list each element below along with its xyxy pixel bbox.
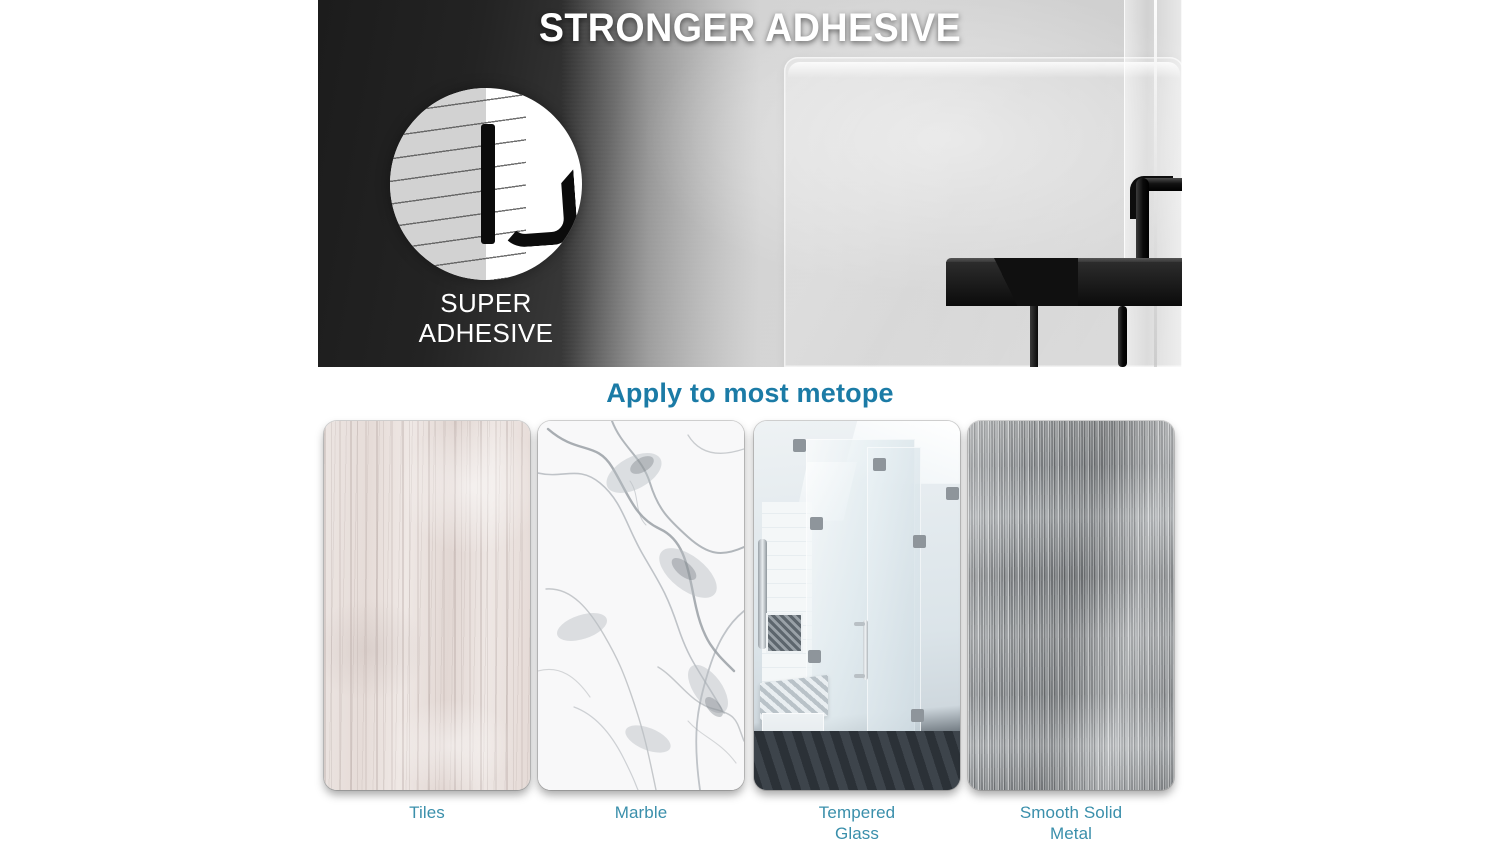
door-handle — [863, 620, 868, 680]
swatch-image-metal — [968, 421, 1174, 790]
tiled-floor — [754, 731, 960, 790]
section-heading: Apply to most metope — [318, 378, 1182, 409]
page-title: STRONGER ADHESIVE — [344, 6, 1156, 51]
swatch-marble: Marble — [538, 421, 744, 823]
product-infographic: STRONGER ADHESIVE SUPER ADHESIVE Apply t… — [0, 0, 1500, 844]
swatch-label-metal-line1: Smooth Solid — [1020, 803, 1122, 822]
mosaic-niche — [766, 613, 803, 654]
swatch-tempered-glass: Tempered Glass — [754, 421, 960, 844]
swatch-image-marble — [538, 421, 744, 790]
hook-curve-icon — [495, 170, 578, 249]
swatch-label-tiles: Tiles — [324, 802, 530, 823]
badge-caption-line1: SUPER — [376, 288, 596, 318]
swatch-label-metal: Smooth Solid Metal — [968, 802, 1174, 844]
swatch-tiles: Tiles — [324, 421, 530, 823]
shelf-bar — [1118, 306, 1127, 367]
marble-texture — [538, 421, 744, 790]
badge-caption-line2: ADHESIVE — [376, 318, 596, 348]
swatch-label-glass-line1: Tempered — [819, 803, 895, 822]
glass-clamp — [911, 709, 924, 722]
marble-vein-graphic — [538, 421, 744, 790]
super-adhesive-badge: SUPER ADHESIVE — [390, 88, 582, 280]
badge-circle — [390, 88, 582, 280]
shower-glass-photo — [754, 421, 960, 790]
badge-caption: SUPER ADHESIVE — [376, 288, 596, 348]
glass-door — [867, 447, 921, 772]
swatch-image-glass — [754, 421, 960, 790]
glass-clamp — [913, 535, 926, 548]
shelf-corner — [946, 258, 1078, 306]
brushed-metal-texture — [968, 421, 1174, 790]
swatch-label-metal-line2: Metal — [1050, 824, 1092, 843]
swatch-label-marble: Marble — [538, 802, 744, 823]
surface-swatch-row: Tiles — [322, 421, 1184, 844]
glass-clamp — [793, 439, 806, 452]
wall-hatch-icon — [390, 88, 486, 280]
swatch-label-glass-line2: Glass — [835, 824, 879, 843]
hook-icon — [481, 124, 495, 243]
glass-clamp — [808, 650, 821, 663]
shelf-bar — [1030, 306, 1038, 367]
swatch-smooth-solid-metal: Smooth Solid Metal — [968, 421, 1174, 844]
swatch-label-glass: Tempered Glass — [754, 802, 960, 844]
plate-highlight — [788, 62, 1180, 78]
glass-clamp — [946, 487, 959, 500]
glass-clamp — [873, 458, 886, 471]
travertine-texture — [324, 421, 530, 790]
glass-clamp — [810, 517, 823, 530]
swatch-image-tiles — [324, 421, 530, 790]
